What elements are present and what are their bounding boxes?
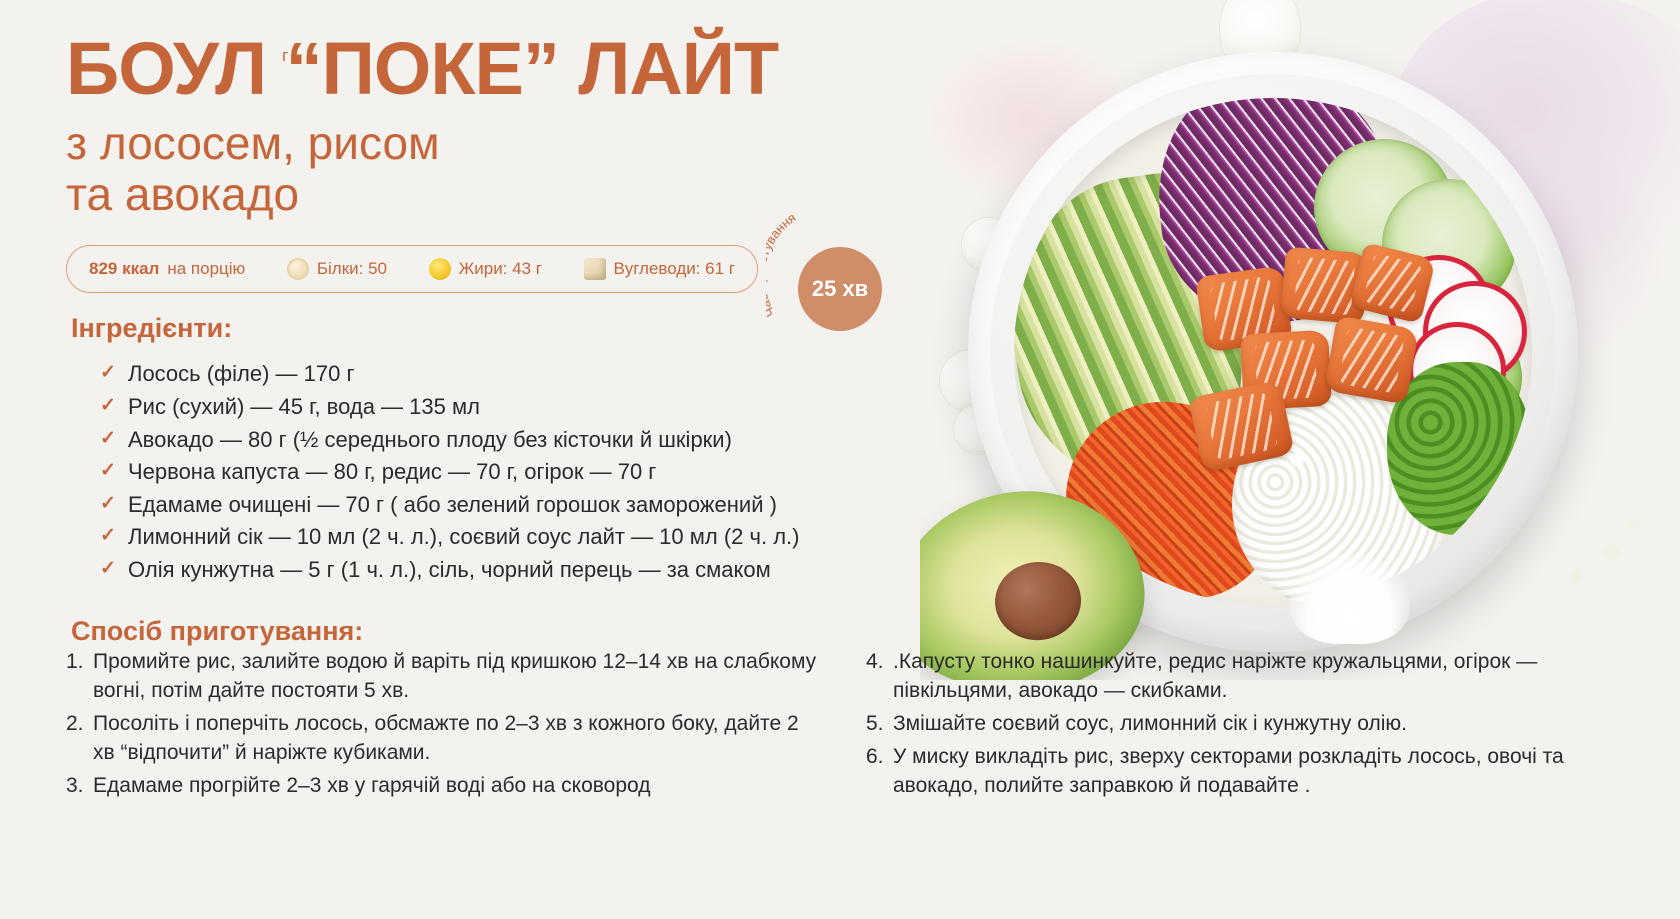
cucumber-slice xyxy=(1314,139,1454,276)
onion-slice-decor xyxy=(1220,0,1300,76)
cabbage-shadow-blob-2 xyxy=(1420,140,1670,370)
pea-decor xyxy=(1628,518,1640,530)
check-icon: ✓ xyxy=(100,457,116,485)
edamame-sector xyxy=(1387,362,1532,535)
step-text: Посоліть і поперчіть лосось, обсмажте по… xyxy=(93,710,826,768)
method-step: 2.Посоліть і поперчіть лосось, обсмажте … xyxy=(66,710,826,768)
ingredient-text: Червона капуста — 80 г, редис — 70 г, ог… xyxy=(128,459,656,484)
ingredient-item: ✓Рис (сухий) — 45 г, вода — 135 мл xyxy=(100,391,1000,424)
page-title: БОУЛ “ПОКЕ” ЛАЙТ xyxy=(66,34,1000,104)
ingredient-text: Авокадо — 80 г (½ середнього плоду без к… xyxy=(128,427,732,452)
step-number: 4. xyxy=(866,648,893,706)
bowl-inner-rim xyxy=(990,74,1556,630)
check-icon: ✓ xyxy=(100,555,116,583)
step-text: Промийте рис, залийте водою й варіть під… xyxy=(93,648,826,706)
ingredient-text: Рис (сухий) — 45 г, вода — 135 мл xyxy=(128,394,480,419)
cooking-time-arc-label: Час приготування xyxy=(766,213,798,320)
cooking-time-badge: Час приготування 25 хв xyxy=(798,247,882,331)
nutrition-pill: 829 ккал на порцію Білки: 50 Жири: 43 г … xyxy=(66,245,758,293)
red-cabbage-sector xyxy=(1147,98,1409,333)
fat-label: Жири: 43 г xyxy=(459,259,542,279)
rice-sector xyxy=(1232,393,1450,606)
step-number: 2. xyxy=(66,710,93,768)
step-text: Змішайте соєвий соус, лимонний сік і кун… xyxy=(893,710,1626,739)
ingredient-text: Лосось (філе) — 170 г xyxy=(128,361,355,386)
pea-decor xyxy=(1570,570,1584,584)
salt-pile-decor xyxy=(1290,554,1410,644)
salmon-cube xyxy=(1349,243,1435,325)
ingredient-text: Лимонний сік — 10 мл (2 ч. л.), соєвий с… xyxy=(128,524,799,549)
salmon-cube xyxy=(1280,247,1369,325)
avocado-pit xyxy=(991,558,1085,645)
carrot-julienne-sector xyxy=(1056,392,1293,606)
method-step: 1.Промийте рис, залийте водою й варіть п… xyxy=(66,648,826,706)
subtitle-line-2: та авокадо xyxy=(66,169,1000,220)
method-step: 6.У миску викладіть рис, зверху секторам… xyxy=(866,743,1626,801)
method-steps-right: 4..Капусту тонко нашинкуйте, редис наріж… xyxy=(866,648,1626,805)
step-number: 3. xyxy=(66,772,93,801)
calories-value: 829 ккал xyxy=(89,259,159,279)
step-number: 6. xyxy=(866,743,893,801)
radish-slice xyxy=(1408,322,1506,419)
cucumber-slice xyxy=(1382,179,1517,311)
ingredient-item: ✓Едамаме очищені — 70 г ( або зелений го… xyxy=(100,489,1000,522)
carb-bread-icon xyxy=(584,258,606,280)
salmon-cube xyxy=(1188,379,1295,473)
ingredient-text: Олія кунжутна — 5 г (1 ч. л.), сіль, чор… xyxy=(128,557,771,582)
ingredient-item: ✓Авокадо — 80 г (½ середнього плоду без … xyxy=(100,424,1000,457)
carbs-label: Вуглеводи: 61 г xyxy=(614,259,735,279)
step-number: 1. xyxy=(66,648,93,706)
check-icon: ✓ xyxy=(100,359,116,387)
carbs-item: Вуглеводи: 61 г xyxy=(584,258,735,280)
ingredient-item: ✓Лимонний сік — 10 мл (2 ч. л.), соєвий … xyxy=(100,521,1000,554)
method-steps-left: 1.Промийте рис, залийте водою й варіть п… xyxy=(66,648,826,805)
salmon-cube xyxy=(1196,265,1294,353)
pea-decor xyxy=(1604,544,1620,560)
protein-unit-overflow: г xyxy=(282,46,288,66)
cabbage-shadow-blob xyxy=(1390,0,1680,290)
bowl-contents xyxy=(1014,98,1532,606)
ingredient-text: Едамаме очищені — 70 г ( або зелений гор… xyxy=(128,492,777,517)
avocado-slices-sector xyxy=(1014,165,1263,509)
radish-slice xyxy=(1423,281,1527,383)
page-subtitle: з лососем, рисом та авокадо xyxy=(66,118,1000,219)
calories-item: 829 ккал на порцію xyxy=(89,259,245,279)
cucumber-slice xyxy=(1408,322,1522,434)
ingredient-item: ✓Олія кунжутна — 5 г (1 ч. л.), сіль, чо… xyxy=(100,554,1000,587)
check-icon: ✓ xyxy=(100,392,116,420)
ingredient-item: ✓Червона капуста — 80 г, редис — 70 г, о… xyxy=(100,456,1000,489)
check-icon: ✓ xyxy=(100,425,116,453)
step-number: 5. xyxy=(866,710,893,739)
protein-label: Білки: 50 xyxy=(317,259,387,279)
salmon-cube xyxy=(1240,329,1332,410)
check-icon: ✓ xyxy=(100,490,116,518)
protein-coin-icon xyxy=(287,258,309,280)
poke-bowl-photo xyxy=(920,0,1680,680)
method-heading: Спосіб приготування: xyxy=(71,616,1000,647)
ingredient-item: ✓Лосось (філе) — 170 г xyxy=(100,358,1000,391)
step-text: Едамаме прогрійте 2–3 хв у гарячій воді … xyxy=(93,772,826,801)
fat-drop-icon xyxy=(429,258,451,280)
calories-suffix: на порцію xyxy=(167,259,245,279)
ingredients-list: ✓Лосось (філе) — 170 г✓Рис (сухий) — 45 … xyxy=(100,358,1000,586)
salmon-cube xyxy=(1324,315,1419,404)
method-step: 5.Змішайте соєвий соус, лимонний сік і к… xyxy=(866,710,1626,739)
subtitle-line-1: з лососем, рисом xyxy=(66,118,1000,169)
fat-item: Жири: 43 г xyxy=(429,258,542,280)
cooking-time-value: 25 хв xyxy=(798,247,882,331)
method-step: 3.Едамаме прогрійте 2–3 хв у гарячій вод… xyxy=(66,772,826,801)
step-text: У миску викладіть рис, зверху секторами … xyxy=(893,743,1626,801)
poke-bowl xyxy=(968,52,1578,652)
recipe-card: БОУЛ “ПОКЕ” ЛАЙТ з лососем, рисом та аво… xyxy=(0,0,1680,919)
method-columns: 1.Промийте рис, залийте водою й варіть п… xyxy=(66,648,1636,805)
protein-item: Білки: 50 xyxy=(287,258,387,280)
cucumber-slice-decor xyxy=(998,414,1044,460)
check-icon: ✓ xyxy=(100,522,116,550)
step-text: .Капусту тонко нашинкуйте, редис наріжте… xyxy=(893,648,1626,706)
bowl-outer-rim xyxy=(968,52,1578,652)
method-step: 4..Капусту тонко нашинкуйте, редис наріж… xyxy=(866,648,1626,706)
radish-slice xyxy=(1387,255,1491,357)
